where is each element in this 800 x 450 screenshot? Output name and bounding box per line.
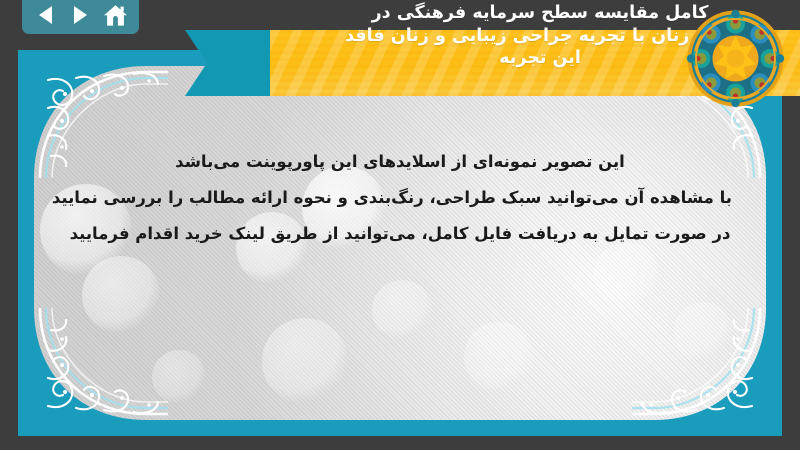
- banner-tail-shape: [185, 30, 271, 96]
- triangle-left-icon: [39, 6, 52, 24]
- body-line: با مشاهده آن می‌توانید سبک طراحی، رنگ‌بن…: [68, 180, 732, 216]
- forward-button[interactable]: [66, 2, 96, 28]
- body-line: در صورت تمایل به دریافت فایل کامل، می‌تو…: [68, 216, 732, 252]
- slide-root: کامل مقایسه سطح سرمایه فرهنگی در میان زن…: [0, 0, 800, 450]
- bokeh-light: [262, 318, 348, 404]
- navigation-toolbar: [22, 0, 139, 34]
- persian-mandala-ornament-icon: [683, 6, 788, 111]
- triangle-right-icon: [74, 6, 87, 24]
- slide-card-frame: این تصویر نمونه‌ای از اسلایدهای این پاور…: [18, 50, 782, 436]
- body-line: این تصویر نمونه‌ای از اسلایدهای این پاور…: [68, 144, 732, 180]
- home-button[interactable]: [101, 2, 131, 28]
- arabesque-corner-ornament-icon: [632, 306, 782, 436]
- home-icon: [103, 4, 128, 27]
- bokeh-light: [464, 322, 534, 392]
- slide-body-text: این تصویر نمونه‌ای از اسلایدهای این پاور…: [68, 144, 732, 252]
- slide-card-interior: این تصویر نمونه‌ای از اسلایدهای این پاور…: [34, 66, 766, 420]
- back-button[interactable]: [31, 2, 61, 28]
- arabesque-corner-ornament-icon: [18, 306, 168, 436]
- bokeh-light: [372, 280, 432, 340]
